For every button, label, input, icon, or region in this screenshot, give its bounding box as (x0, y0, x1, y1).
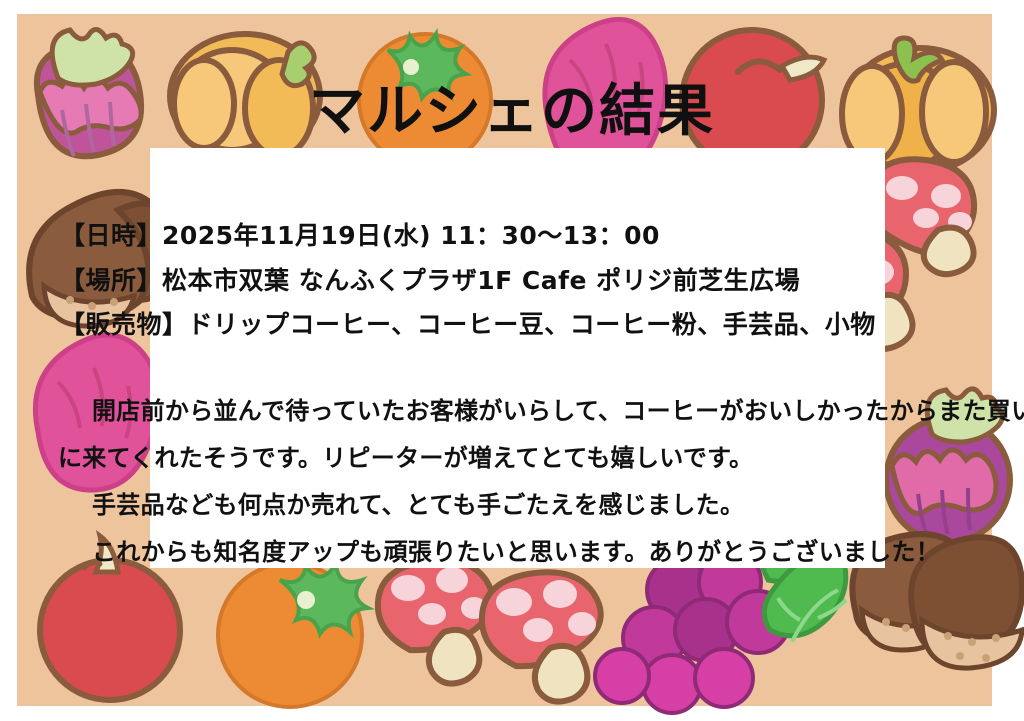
report-line-2: に来てくれたそうです。リピーターが増えてとても嬉しいです。 (58, 439, 968, 478)
event-goods: 【販売物】ドリップコーヒー、コーヒー豆、コーヒー粉、手芸品、小物 (60, 303, 960, 348)
page-title: マルシェの結果 (0, 84, 1024, 140)
event-place: 【場所】松本市双葉 なんふくプラザ1F Cafe ポリジ前芝生広場 (60, 259, 960, 304)
report-body: 開店前から並んで待っていたお客様がいらして、コーヒーがおいしかったからまた買い … (58, 392, 968, 580)
report-line-4: これからも知名度アップも頑張りたいと思います。ありがとうございました！ (58, 533, 968, 572)
report-line-1: 開店前から並んで待っていたお客様がいらして、コーヒーがおいしかったからまた買い (58, 392, 968, 431)
poster-root: マルシェの結果 【日時】2025年11月19日(水) 11：30～13：00 【… (0, 0, 1024, 721)
event-info-block: 【日時】2025年11月19日(水) 11：30～13：00 【場所】松本市双葉… (60, 214, 960, 348)
event-datetime: 【日時】2025年11月19日(水) 11：30～13：00 (60, 214, 960, 259)
report-line-3: 手芸品なども何点か売れて、とても手ごたえを感じました。 (58, 486, 968, 525)
